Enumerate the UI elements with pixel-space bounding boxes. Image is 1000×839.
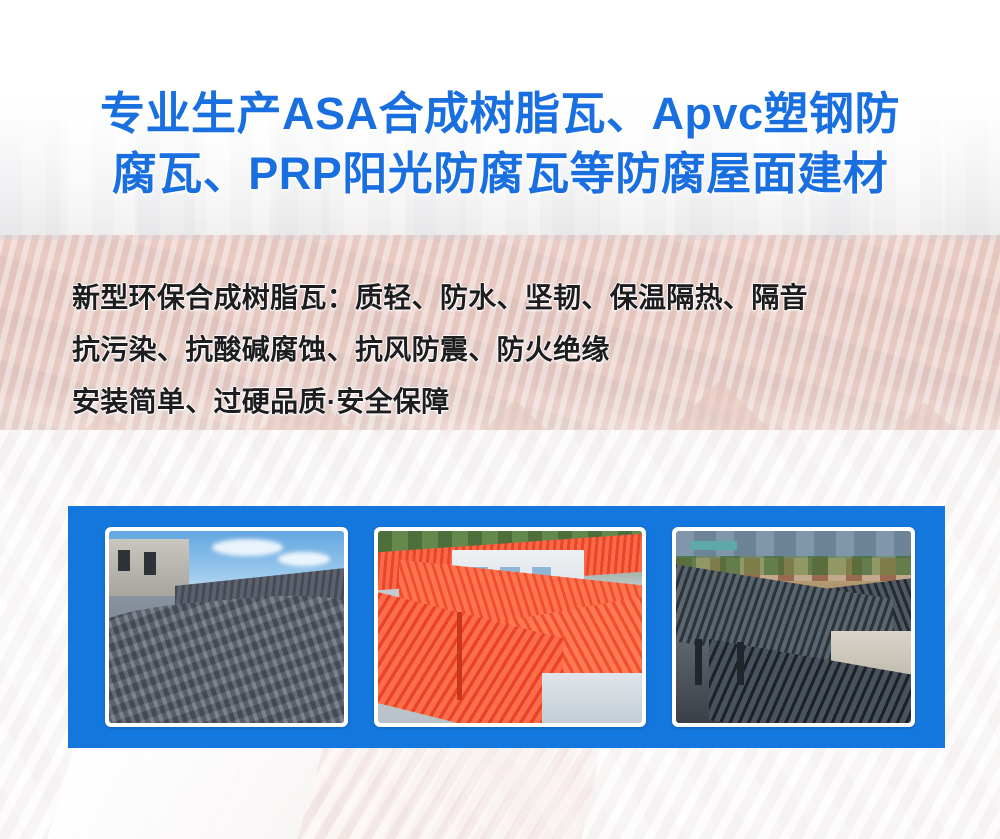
headline: 专业生产ASA合成树脂瓦、Apvc塑钢防 腐瓦、PRP阳光防腐瓦等防腐屋面建材: [0, 84, 1000, 204]
photo-card-2[interactable]: [374, 527, 646, 727]
subtitle-line-3: 安装简单、过硬品质·安全保障: [72, 376, 808, 428]
dark-resin-tile-roof-village-photo: [676, 531, 911, 723]
photo-window: [144, 552, 156, 575]
photo-main-tiled-roof: [109, 589, 344, 723]
photo-roof-ridge: [457, 612, 462, 700]
photo-gallery-panel: [68, 506, 945, 748]
subtitle-line-2: 抗污染、抗酸碱腐蚀、抗风防震、防火绝缘: [72, 324, 808, 376]
red-resin-tile-roof-buildings-photo: [378, 531, 642, 723]
photo-card-3[interactable]: [672, 527, 915, 727]
photo-column: [695, 639, 702, 685]
subtitle-block: 新型环保合成树脂瓦：质轻、防水、坚韧、保温隔热、隔音 抗污染、抗酸碱腐蚀、抗风防…: [72, 272, 808, 428]
photo-cloud: [212, 539, 283, 556]
photo-cloud: [278, 552, 330, 565]
gray-resin-tile-roof-closeup-photo: [109, 531, 344, 723]
photo-window: [118, 550, 130, 571]
photo-teal-roof: [690, 541, 737, 551]
photo-card-1[interactable]: [105, 527, 348, 727]
photo-lower-building: [542, 673, 642, 723]
photo-column: [737, 642, 744, 684]
product-promo-banner: 专业生产ASA合成树脂瓦、Apvc塑钢防 腐瓦、PRP阳光防腐瓦等防腐屋面建材 …: [0, 0, 1000, 839]
subtitle-line-1: 新型环保合成树脂瓦：质轻、防水、坚韧、保温隔热、隔音: [72, 272, 808, 324]
headline-line-1: 专业生产ASA合成树脂瓦、Apvc塑钢防: [0, 84, 1000, 144]
headline-line-2: 腐瓦、PRP阳光防腐瓦等防腐屋面建材: [0, 144, 1000, 204]
